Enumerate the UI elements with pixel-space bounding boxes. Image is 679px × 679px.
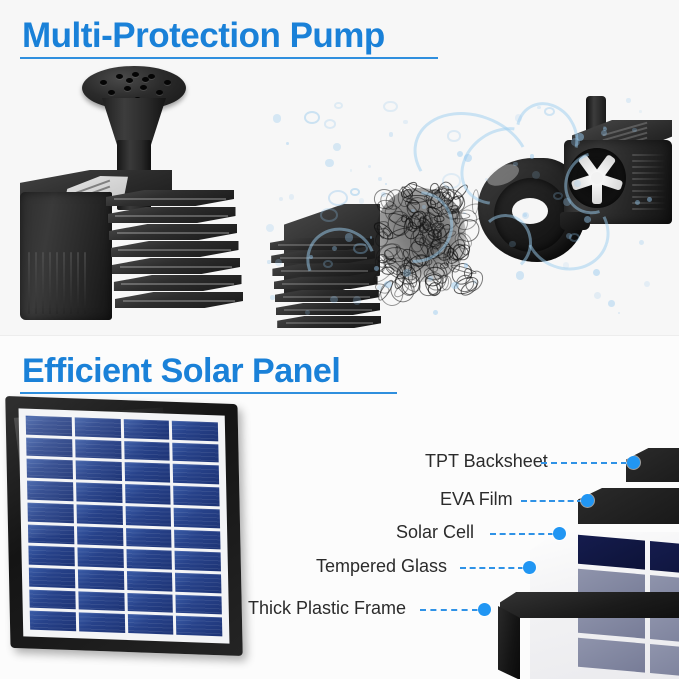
solar-cell	[74, 417, 120, 437]
water-droplet	[632, 128, 636, 132]
water-droplet	[275, 259, 282, 266]
water-droplet	[378, 177, 382, 181]
pump-rib	[632, 208, 666, 210]
pump-fin	[111, 241, 239, 257]
water-droplet	[563, 198, 571, 206]
solar-panel-cell-grid	[26, 416, 223, 637]
pump-rib	[632, 184, 666, 186]
solar-cell	[173, 486, 219, 506]
sprinkler-hole-icon	[116, 74, 123, 79]
vent-slot	[63, 252, 65, 314]
assembled-pump-image	[14, 66, 264, 328]
solar-cell	[28, 524, 74, 544]
water-droplet	[333, 143, 341, 151]
solar-cell	[30, 611, 76, 631]
water-droplet	[639, 240, 644, 245]
layer-cell-dark	[578, 535, 645, 570]
water-droplet	[594, 292, 601, 299]
callout-label-cell: Solar Cell	[396, 523, 474, 541]
solar-cell	[78, 591, 124, 611]
layer-frame-top-bar	[500, 592, 679, 618]
splash-ring	[334, 102, 343, 109]
splash-ring	[447, 130, 461, 141]
water-droplet	[626, 98, 630, 102]
infographic-page: Multi-Protection Pump	[0, 0, 679, 679]
callout-dot-tpt	[627, 456, 640, 469]
layer-cell-light	[578, 637, 645, 672]
sprinkler-hole-icon	[148, 74, 155, 79]
water-droplet	[350, 169, 353, 172]
vent-slot	[70, 252, 72, 314]
water-droplet	[267, 260, 270, 263]
solar-cell	[175, 573, 221, 593]
callout-dot-frame	[478, 603, 491, 616]
water-droplet	[381, 192, 386, 197]
water-droplet	[576, 133, 584, 141]
water-droplet	[515, 114, 523, 122]
callout-leader-tpt	[541, 462, 627, 464]
solar-cell	[76, 504, 122, 524]
sprinkler-hole-icon	[132, 72, 139, 77]
water-droplet	[270, 295, 275, 300]
sprinkler-hole-icon	[100, 80, 107, 85]
callout-leader-glass	[460, 567, 524, 569]
splash-ring	[320, 208, 337, 222]
pump-heading-underline	[20, 57, 438, 59]
solar-cell	[27, 502, 73, 522]
solar-cell	[77, 526, 123, 546]
layer-cell-dark	[650, 541, 679, 576]
callout-leader-frame	[420, 609, 478, 611]
sprinkler-hole-icon	[142, 77, 149, 82]
callout-label-glass: Tempered Glass	[316, 557, 447, 575]
vent-slot	[56, 252, 58, 314]
solar-cell	[173, 464, 219, 484]
water-droplet	[368, 165, 371, 168]
vent-slot	[77, 252, 79, 314]
callout-dot-eva	[581, 494, 594, 507]
sprinkler-hole-icon	[156, 90, 163, 95]
water-droplet	[532, 171, 540, 179]
solar-cell	[26, 437, 72, 457]
solar-cell	[127, 614, 173, 634]
water-droplet	[359, 198, 365, 204]
water-droplet	[639, 110, 642, 113]
water-droplet	[403, 120, 408, 125]
pump-fin	[115, 292, 243, 308]
water-droplet	[522, 212, 529, 219]
vent-slot	[84, 252, 86, 314]
callout-label-eva: EVA Film	[440, 490, 513, 508]
solar-cell	[172, 421, 218, 441]
pump-rib	[632, 178, 666, 180]
water-droplet	[422, 205, 426, 209]
water-droplet	[537, 106, 540, 109]
solar-cell	[175, 551, 221, 571]
solar-cell	[75, 461, 121, 481]
vent-slot	[35, 252, 37, 314]
solar-cell	[123, 419, 169, 439]
sprinkler-hole-icon	[164, 80, 171, 85]
water-droplet	[389, 132, 393, 136]
solar-cell	[29, 568, 75, 588]
water-droplet	[574, 180, 581, 187]
solar-cell	[26, 416, 72, 436]
pump-rib	[632, 190, 666, 192]
layer-frame-side-bar	[498, 606, 520, 679]
solar-cell	[79, 613, 125, 633]
sprinkler-hole-icon	[124, 86, 131, 91]
water-droplet	[464, 154, 472, 162]
callout-leader-eva	[521, 500, 583, 502]
water-droplet	[289, 194, 295, 200]
pump-rib	[632, 172, 666, 174]
water-droplet	[593, 269, 600, 276]
splash-ring	[304, 111, 320, 124]
splash-ring	[324, 119, 336, 129]
water-droplet	[644, 281, 650, 287]
callout-dot-glass	[523, 561, 536, 574]
layer-eva-film	[578, 488, 679, 524]
water-droplet	[608, 300, 615, 307]
pump-section: Multi-Protection Pump	[0, 0, 679, 336]
water-droplet	[370, 236, 372, 238]
solar-cell	[77, 548, 123, 568]
solar-cell	[126, 528, 172, 548]
water-droplet	[266, 224, 274, 232]
solar-cell	[126, 571, 172, 591]
solar-cell	[27, 481, 73, 501]
vent-slot	[49, 252, 51, 314]
pump-rib	[632, 154, 666, 156]
solar-cell	[124, 462, 170, 482]
solar-section-heading: Efficient Solar Panel	[22, 354, 340, 388]
water-droplet	[618, 312, 620, 314]
callout-label-frame: Thick Plastic Frame	[248, 599, 406, 617]
vent-slot	[42, 252, 44, 314]
solar-cell	[125, 484, 171, 504]
pump-rib	[632, 166, 666, 168]
solar-cell	[127, 593, 173, 613]
water-droplet	[286, 142, 289, 145]
solar-cell	[124, 441, 170, 461]
splash-ring	[328, 190, 348, 206]
solar-cell	[174, 529, 220, 549]
solar-cell	[29, 589, 75, 609]
solar-heading-underline	[20, 392, 397, 394]
solar-cell	[174, 508, 220, 528]
solar-cell	[28, 546, 74, 566]
filter-cage-fin	[277, 316, 381, 328]
water-droplet	[513, 162, 517, 166]
solar-cell	[176, 616, 222, 636]
sprinkler-head-neck	[102, 98, 166, 146]
solar-cell	[173, 442, 219, 462]
water-droplet	[279, 197, 283, 201]
water-droplet	[273, 114, 281, 122]
water-droplet	[530, 154, 534, 158]
pump-section-heading: Multi-Protection Pump	[22, 18, 385, 53]
pump-fin	[114, 275, 242, 291]
solar-cell	[76, 482, 122, 502]
splash-ring	[442, 173, 461, 188]
water-droplet	[353, 296, 361, 304]
water-droplet	[516, 271, 524, 279]
solar-panel-photo	[5, 398, 242, 655]
exploded-pump-parts	[262, 96, 674, 334]
solar-cell	[125, 506, 171, 526]
solar-cell	[75, 439, 121, 459]
sprinkler-hole-icon	[140, 85, 147, 90]
filter-cage-fin	[276, 303, 380, 315]
callout-leader-cell	[490, 533, 554, 535]
splash-ring	[569, 233, 580, 242]
water-droplet	[473, 280, 477, 284]
water-droplet	[384, 281, 391, 288]
sprinkler-hole-icon	[126, 78, 133, 83]
callout-label-tpt: TPT Backsheet	[425, 452, 548, 470]
water-droplet	[345, 233, 354, 242]
splash-ring	[350, 188, 360, 196]
water-droplet	[433, 310, 438, 315]
water-droplet	[325, 159, 334, 168]
pump-rib	[632, 160, 666, 162]
solar-cell	[78, 569, 124, 589]
callout-dot-cell	[553, 527, 566, 540]
pump-fin	[112, 258, 240, 274]
sprinkler-hole-icon	[108, 90, 115, 95]
vent-slot	[28, 252, 30, 314]
splash-ring	[383, 101, 398, 113]
solar-cell	[126, 549, 172, 569]
solar-cell	[176, 594, 222, 614]
pump-housing-vents	[28, 252, 90, 314]
water-droplet	[647, 197, 652, 202]
pump-fin	[109, 224, 237, 240]
solar-layer-diagram	[430, 440, 679, 679]
solar-cell	[27, 459, 73, 479]
